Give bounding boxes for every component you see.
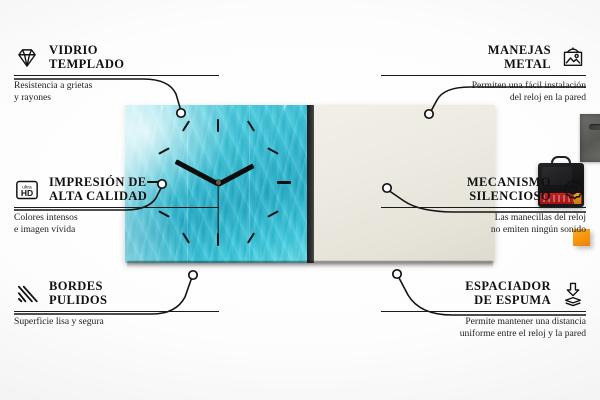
callout-title: VIDRIO TEMPLADO (49, 44, 124, 71)
callout-head: VIDRIO TEMPLADO (14, 44, 219, 71)
clock-tick (247, 120, 255, 131)
callout-head: ESPACIADOR DE ESPUMA (381, 280, 586, 307)
callout-desc: Permite mantener una distancia uniforme … (381, 316, 586, 339)
callout-bordes-pulidos[interactable]: BORDES PULIDOS Superficie lisa y segura (14, 280, 219, 328)
ultra-hd-icon: ultra HD (14, 177, 40, 203)
callout-manejas-metal[interactable]: MANEJAS METAL Permiten una fácil instala… (381, 44, 586, 103)
callout-desc: Superficie lisa y segura (14, 316, 219, 327)
callout-head: MANEJAS METAL (381, 44, 586, 71)
callout-desc: Resistencia a grietas y rayones (14, 80, 219, 103)
callout-title: ESPACIADOR DE ESPUMA (465, 280, 551, 307)
arrow-onto-stack-icon (560, 281, 586, 307)
callout-desc: Las manecillas del reloj no emiten ningú… (381, 212, 586, 235)
callout-desc: Colores intensos e imagen vívida (14, 212, 219, 235)
hanging-frame-icon (560, 45, 586, 71)
callout-head: ultra HD IMPRESIÓN DE ALTA CALIDAD (14, 176, 219, 203)
callout-mecanismo-silencioso[interactable]: MECANISMO SILENCIOSO Las manecillas del … (381, 176, 586, 235)
diamond-icon (14, 45, 40, 71)
callout-impresion-alta-calidad[interactable]: ultra HD IMPRESIÓN DE ALTA CALIDAD Color… (14, 176, 219, 235)
svg-text:HD: HD (21, 188, 33, 198)
hanger-plate (580, 114, 600, 162)
panel-seam (249, 105, 250, 263)
clock-tick (217, 119, 219, 132)
clock-tick (277, 181, 291, 184)
callout-head: BORDES PULIDOS (14, 280, 219, 307)
diagonal-lines-icon (14, 281, 40, 307)
callout-rule (14, 75, 219, 76)
clock-tick (182, 120, 190, 131)
hanger-keyhole-slot (589, 124, 600, 130)
mechanism-hook (551, 156, 571, 166)
connector-dot-espaciador (393, 270, 401, 278)
callout-title: IMPRESIÓN DE ALTA CALIDAD (49, 176, 147, 203)
callout-espaciador-de-espuma[interactable]: ESPACIADOR DE ESPUMA Permite mantener un… (381, 280, 586, 339)
callout-rule (381, 311, 586, 312)
callout-vidrio-templado[interactable]: VIDRIO TEMPLADO Resistencia a grietas y … (14, 44, 219, 103)
panel-edge (307, 105, 314, 263)
infographic-canvas: VIDRIO TEMPLADO Resistencia a grietas y … (0, 0, 600, 400)
callout-desc: Permiten una fácil instalación del reloj… (381, 80, 586, 103)
callout-title: BORDES PULIDOS (49, 280, 107, 307)
clock-tick (267, 210, 279, 217)
callout-rule (14, 207, 219, 208)
callout-rule (381, 207, 586, 208)
callout-rule (14, 311, 219, 312)
callout-rule (381, 75, 586, 76)
callout-title: MECANISMO SILENCIOSO (467, 176, 551, 203)
callout-title: MANEJAS METAL (488, 44, 551, 71)
product-shadow (127, 261, 493, 268)
gear-icon (560, 177, 586, 203)
clock-tick (158, 147, 170, 154)
connector-dot-bordes (189, 271, 197, 279)
clock-tick (267, 147, 279, 154)
hour-hand (217, 163, 254, 186)
clock-tick (247, 232, 255, 243)
callout-head: MECANISMO SILENCIOSO (381, 176, 586, 203)
